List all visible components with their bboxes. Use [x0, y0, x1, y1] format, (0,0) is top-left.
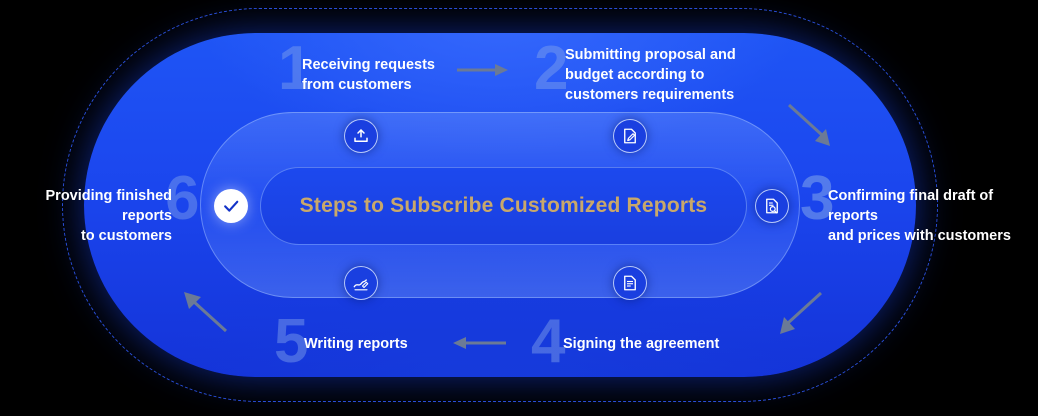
check-circle-icon — [221, 196, 241, 216]
arrow-step5-to-step6 — [180, 288, 230, 334]
step-badge-3[interactable] — [755, 189, 789, 223]
step-badge-2[interactable] — [613, 119, 647, 153]
upload-icon — [352, 127, 370, 145]
step-badge-5[interactable] — [344, 266, 378, 300]
arrow-step3-to-step4 — [772, 290, 824, 338]
step-label-3: Confirming final draft of reports and pr… — [828, 186, 1038, 246]
arrow-step2-to-step3 — [786, 102, 838, 150]
step-label-2: Submitting proposal and budget according… — [565, 45, 736, 105]
arrow-step1-to-step2 — [455, 62, 509, 78]
step-label-1: Receiving requests from customers — [302, 55, 435, 95]
document-search-icon — [763, 197, 781, 215]
infographic-canvas: Steps to Subscribe Customized Reports 1 … — [0, 0, 1038, 416]
step-badge-4[interactable] — [613, 266, 647, 300]
step-label-5: Writing reports — [304, 334, 408, 354]
step-label-6: Providing finished reports to customers — [0, 186, 172, 246]
signature-pen-icon — [352, 274, 370, 292]
step-badge-6[interactable] — [214, 189, 248, 223]
step-number-4: 4 — [531, 311, 565, 373]
edit-document-icon — [621, 127, 639, 145]
step-number-2: 2 — [534, 38, 568, 100]
step-badge-1[interactable] — [344, 119, 378, 153]
center-pill: Steps to Subscribe Customized Reports — [260, 167, 747, 245]
document-list-icon — [621, 274, 639, 292]
step-label-4: Signing the agreement — [563, 334, 719, 354]
arrow-step4-to-step5 — [450, 335, 508, 351]
page-title: Steps to Subscribe Customized Reports — [300, 194, 708, 218]
